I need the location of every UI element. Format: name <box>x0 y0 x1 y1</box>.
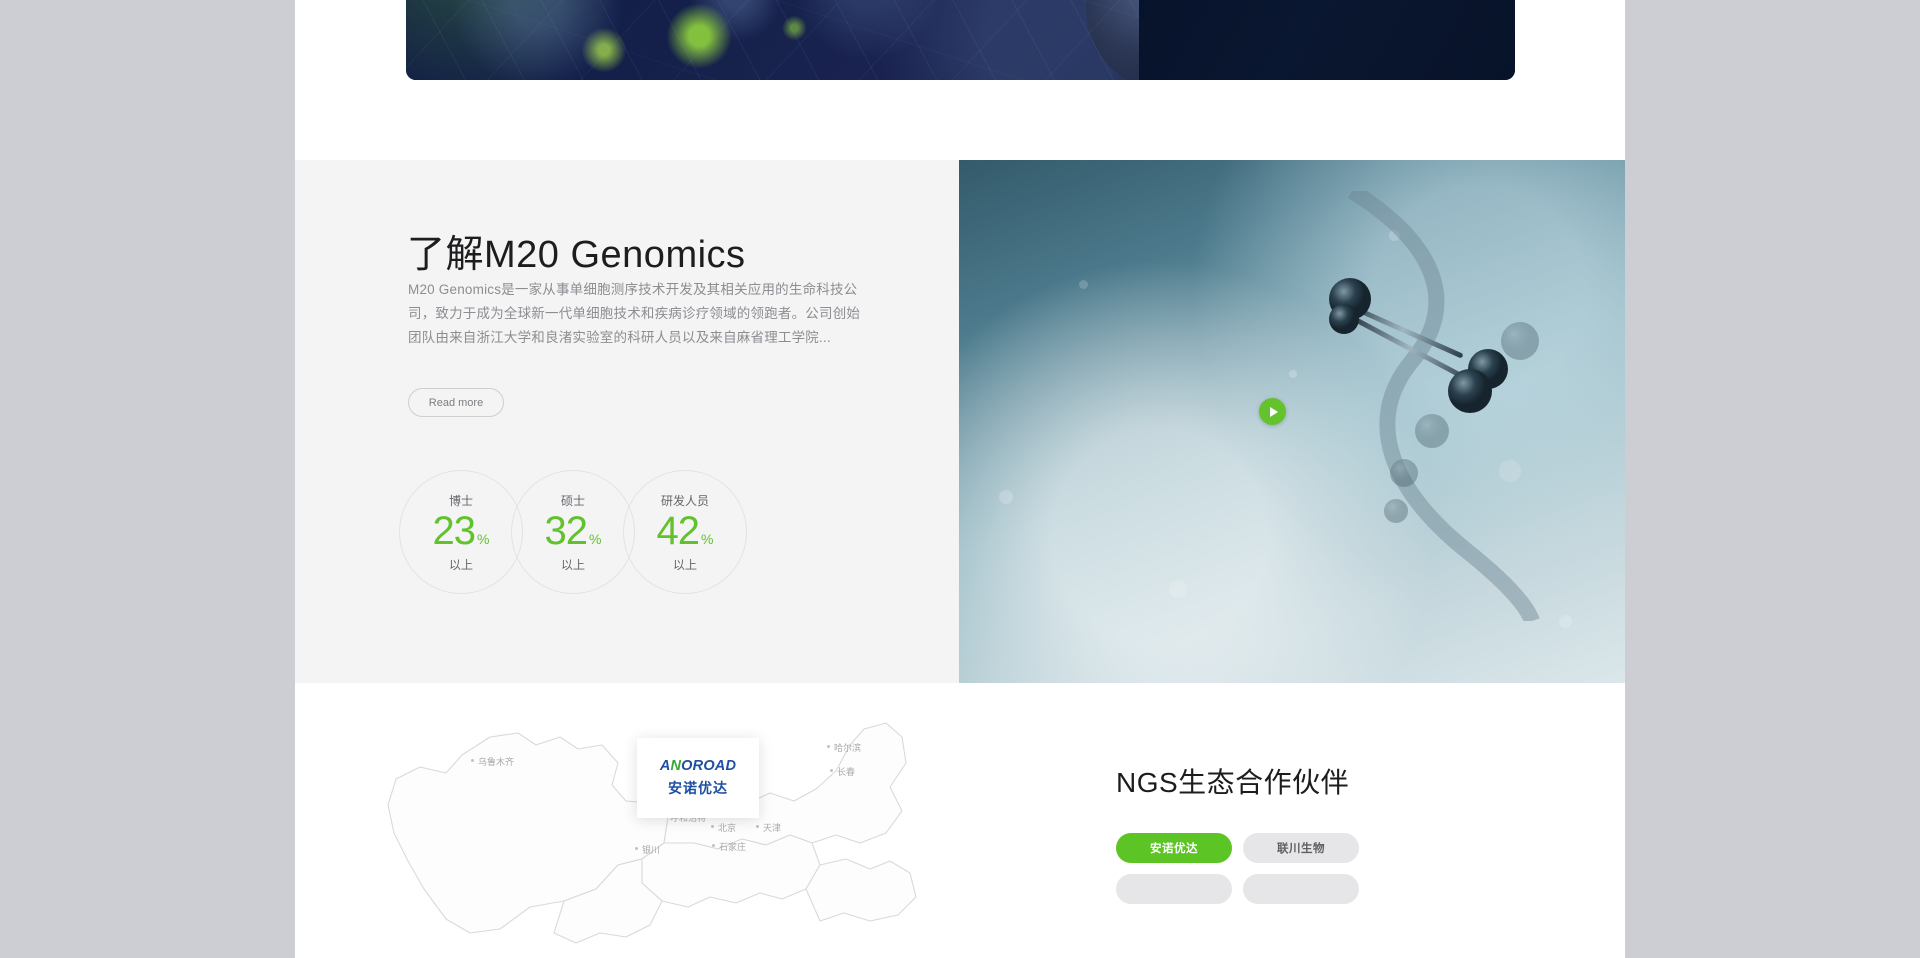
map-city-label: 石家庄 <box>719 840 746 853</box>
partner-chip-3[interactable] <box>1116 874 1232 904</box>
stat-suffix: 以上 <box>673 556 697 573</box>
stat-value: 32 % <box>545 511 602 551</box>
stat-value: 42 % <box>657 511 714 551</box>
partner-chip-4[interactable] <box>1243 874 1359 904</box>
dna-helix-image <box>1292 191 1622 621</box>
page-title: 了解M20 Genomics <box>407 223 746 278</box>
read-more-button[interactable]: Read more <box>408 388 504 417</box>
partners-content: NGS生态合作伙伴 安诺优达 联川生物 <box>1055 683 1625 958</box>
map-city-label: 银川 <box>642 843 660 856</box>
hero-banner[interactable]: CAS <box>406 0 1515 80</box>
map-city-label: 长春 <box>837 765 855 778</box>
about-paragraph: M20 Genomics是一家从事单细胞测序技术开发及其相关应用的生命科技公司，… <box>408 278 863 350</box>
page-canvas: CAS 了解M20 Genomics M20 Genomics是一家从事单细胞测… <box>295 0 1625 958</box>
stat-label: 硕士 <box>561 492 585 509</box>
stat-number: 23 <box>433 511 476 551</box>
video-play-button[interactable] <box>1259 398 1286 425</box>
partner-logo-en: ANOROAD <box>660 758 736 774</box>
stat-number: 42 <box>657 511 700 551</box>
banner-right-artwork: CAS <box>1139 0 1515 80</box>
logo-letter-a: A <box>660 758 671 774</box>
stat-circle-rd: 研发人员 42 % 以上 <box>623 470 747 594</box>
stat-label: 研发人员 <box>661 492 709 509</box>
stat-label: 博士 <box>449 492 473 509</box>
partner-chip-lianchuan[interactable]: 联川生物 <box>1243 833 1359 863</box>
china-map[interactable]: 乌鲁木齐 哈尔滨 长春 呼和浩特 北京 天津 石家庄 银川 ANOROAD 安诺… <box>350 693 970 958</box>
play-triangle-icon <box>1270 407 1278 417</box>
partner-chip-annoroad[interactable]: 安诺优达 <box>1116 833 1232 863</box>
stat-value: 23 % <box>433 511 490 551</box>
china-map-outline-icon <box>350 693 970 958</box>
map-city-label: 乌鲁木齐 <box>478 755 514 768</box>
partner-logo-cn: 安诺优达 <box>668 778 728 798</box>
map-city-label: 哈尔滨 <box>834 741 861 754</box>
partners-title: NGS生态合作伙伴 <box>1116 761 1349 801</box>
about-video-panel[interactable] <box>959 160 1625 683</box>
stat-circle-master: 硕士 32 % 以上 <box>511 470 635 594</box>
stat-number: 32 <box>545 511 588 551</box>
bokeh-dot <box>999 490 1013 504</box>
logo-letter-n: N <box>671 758 682 774</box>
about-section: 了解M20 Genomics M20 Genomics是一家从事单细胞测序技术开… <box>295 160 1625 683</box>
banner-left-artwork <box>406 0 1139 80</box>
stats-group: 博士 23 % 以上 硕士 32 % 以上 研发人员 <box>399 470 735 594</box>
partner-logo-card[interactable]: ANOROAD 安诺优达 <box>637 738 759 818</box>
stat-percent-sign: % <box>477 531 489 547</box>
stat-suffix: 以上 <box>449 556 473 573</box>
logo-letters-rest: OROAD <box>681 758 736 774</box>
partners-section: 乌鲁木齐 哈尔滨 长春 呼和浩特 北京 天津 石家庄 银川 ANOROAD 安诺… <box>295 683 1625 958</box>
stat-percent-sign: % <box>589 531 601 547</box>
map-city-label: 天津 <box>763 821 781 834</box>
bokeh-dot <box>1079 280 1088 289</box>
about-text-column: 了解M20 Genomics M20 Genomics是一家从事单细胞测序技术开… <box>295 160 959 683</box>
partner-chip-list: 安诺优达 联川生物 <box>1116 833 1436 904</box>
stat-suffix: 以上 <box>561 556 585 573</box>
stat-circle-phd: 博士 23 % 以上 <box>399 470 523 594</box>
bokeh-dot <box>1169 580 1187 598</box>
map-city-label: 北京 <box>718 821 736 834</box>
stat-percent-sign: % <box>701 531 713 547</box>
